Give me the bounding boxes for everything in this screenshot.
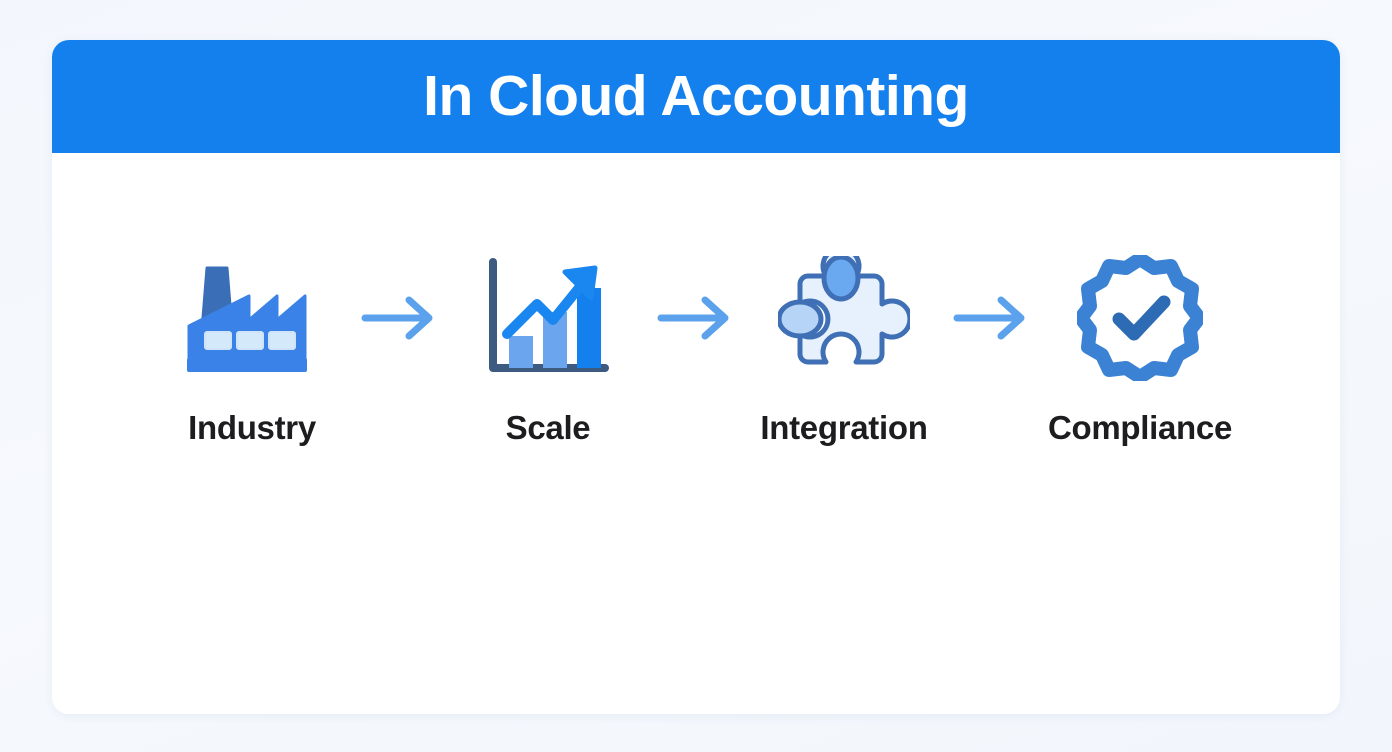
flow-step-label: Integration	[760, 409, 927, 447]
factory-icon	[185, 253, 319, 383]
flow-step-integration[interactable]: Integration	[744, 253, 944, 447]
page-title: In Cloud Accounting	[423, 68, 969, 125]
verified-badge-check-icon	[1077, 253, 1203, 383]
flow-step-industry[interactable]: Industry	[152, 253, 352, 447]
flow-step-compliance[interactable]: Compliance	[1040, 253, 1240, 447]
flow-step-scale[interactable]: Scale	[448, 253, 648, 447]
card-body: Industry	[52, 153, 1340, 714]
bar-chart-growth-icon	[483, 253, 613, 383]
process-flow: Industry	[52, 253, 1340, 447]
infographic-card: In Cloud Accounting	[52, 40, 1340, 714]
arrow-right-icon	[648, 253, 744, 383]
card-header: In Cloud Accounting	[52, 40, 1340, 153]
arrow-right-icon	[944, 253, 1040, 383]
flow-step-label: Scale	[506, 409, 591, 447]
flow-step-label: Industry	[188, 409, 316, 447]
flow-step-label: Compliance	[1048, 409, 1232, 447]
arrow-right-icon	[352, 253, 448, 383]
puzzle-piece-icon	[778, 253, 910, 383]
